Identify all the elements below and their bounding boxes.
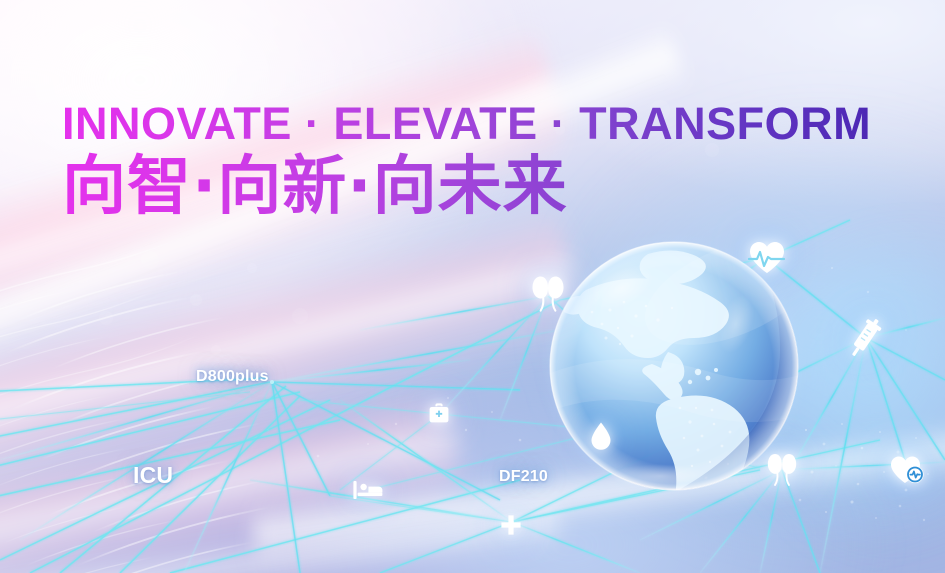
headline-english: INNOVATE · ELEVATE · TRANSFORM	[62, 98, 871, 150]
tag-df210: DF210	[499, 468, 548, 486]
tag-layer: D800plus ICU DF210	[0, 0, 945, 573]
tag-d800plus: D800plus	[196, 368, 269, 386]
headline-chinese: 向智·向新·向未来	[62, 150, 871, 224]
headline-block: INNOVATE · ELEVATE · TRANSFORM 向智·向新·向未来	[62, 98, 871, 224]
tag-icu: ICU	[133, 462, 173, 489]
hero-banner: D800plus ICU DF210 INNOVATE · ELEVATE · …	[0, 0, 945, 573]
